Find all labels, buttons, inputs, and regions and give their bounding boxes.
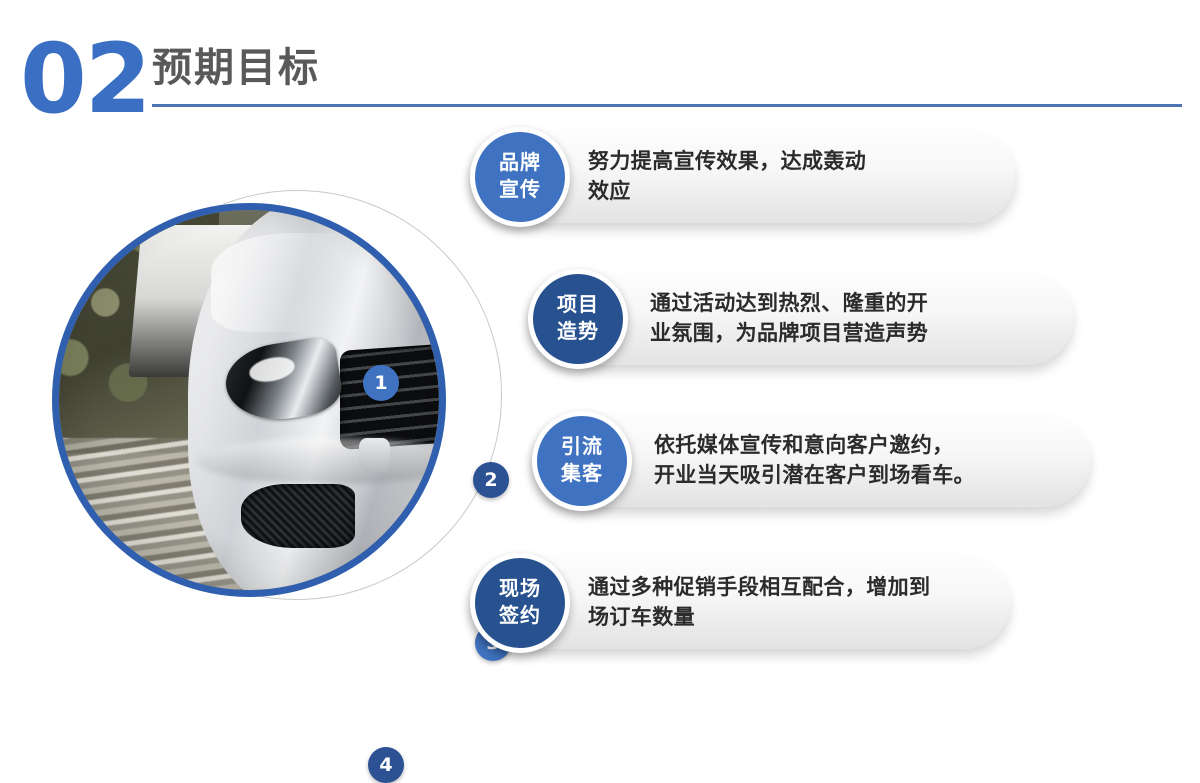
goal-card-3-badge-line1: 引流 bbox=[561, 434, 603, 461]
step-badge-2[interactable]: 2 bbox=[473, 462, 509, 498]
slide-header: 02 预期目标 bbox=[0, 0, 1200, 140]
goal-card-2-text: 通过活动达到热烈、隆重的开 业氛围，为品牌项目营造声势 bbox=[650, 289, 1060, 349]
slide-canvas: 02 预期目标 1 2 bbox=[0, 0, 1200, 675]
goal-card-2-badge[interactable]: 项目 造势 bbox=[528, 269, 628, 369]
photo-cluster: 1 2 3 4 bbox=[30, 175, 490, 635]
goal-card-1-badge-line1: 品牌 bbox=[499, 150, 541, 177]
goal-card-1-badge[interactable]: 品牌 宣传 bbox=[470, 127, 570, 227]
goal-card-4-text: 通过多种促销手段相互配合，增加到 场订车数量 bbox=[588, 573, 998, 633]
goal-card-4-badge-line2: 签约 bbox=[499, 603, 541, 630]
goal-card-4-badge[interactable]: 现场 签约 bbox=[470, 553, 570, 653]
page-title: 预期目标 bbox=[152, 44, 1182, 92]
section-number: 02 bbox=[20, 31, 150, 127]
step-badge-4[interactable]: 4 bbox=[368, 747, 404, 783]
goal-card-2-badge-line2: 造势 bbox=[557, 319, 599, 346]
goal-card-3-badge[interactable]: 引流 集客 bbox=[532, 411, 632, 511]
step-badge-1[interactable]: 1 bbox=[363, 365, 399, 401]
goal-card-4-badge-line1: 现场 bbox=[499, 576, 541, 603]
goal-card-1-badge-line2: 宣传 bbox=[499, 177, 541, 204]
goal-card-2-badge-line1: 项目 bbox=[557, 292, 599, 319]
page-title-text: 预期目标 bbox=[152, 44, 1182, 92]
goal-card-3-text: 依托媒体宣传和意向客户邀约， 开业当天吸引潜在客户到场看车。 bbox=[654, 431, 1079, 491]
title-underline-rule bbox=[152, 104, 1182, 107]
goal-card-1-text: 努力提高宣传效果，达成轰动 效应 bbox=[588, 147, 998, 207]
goal-card-3-badge-line2: 集客 bbox=[561, 461, 603, 488]
